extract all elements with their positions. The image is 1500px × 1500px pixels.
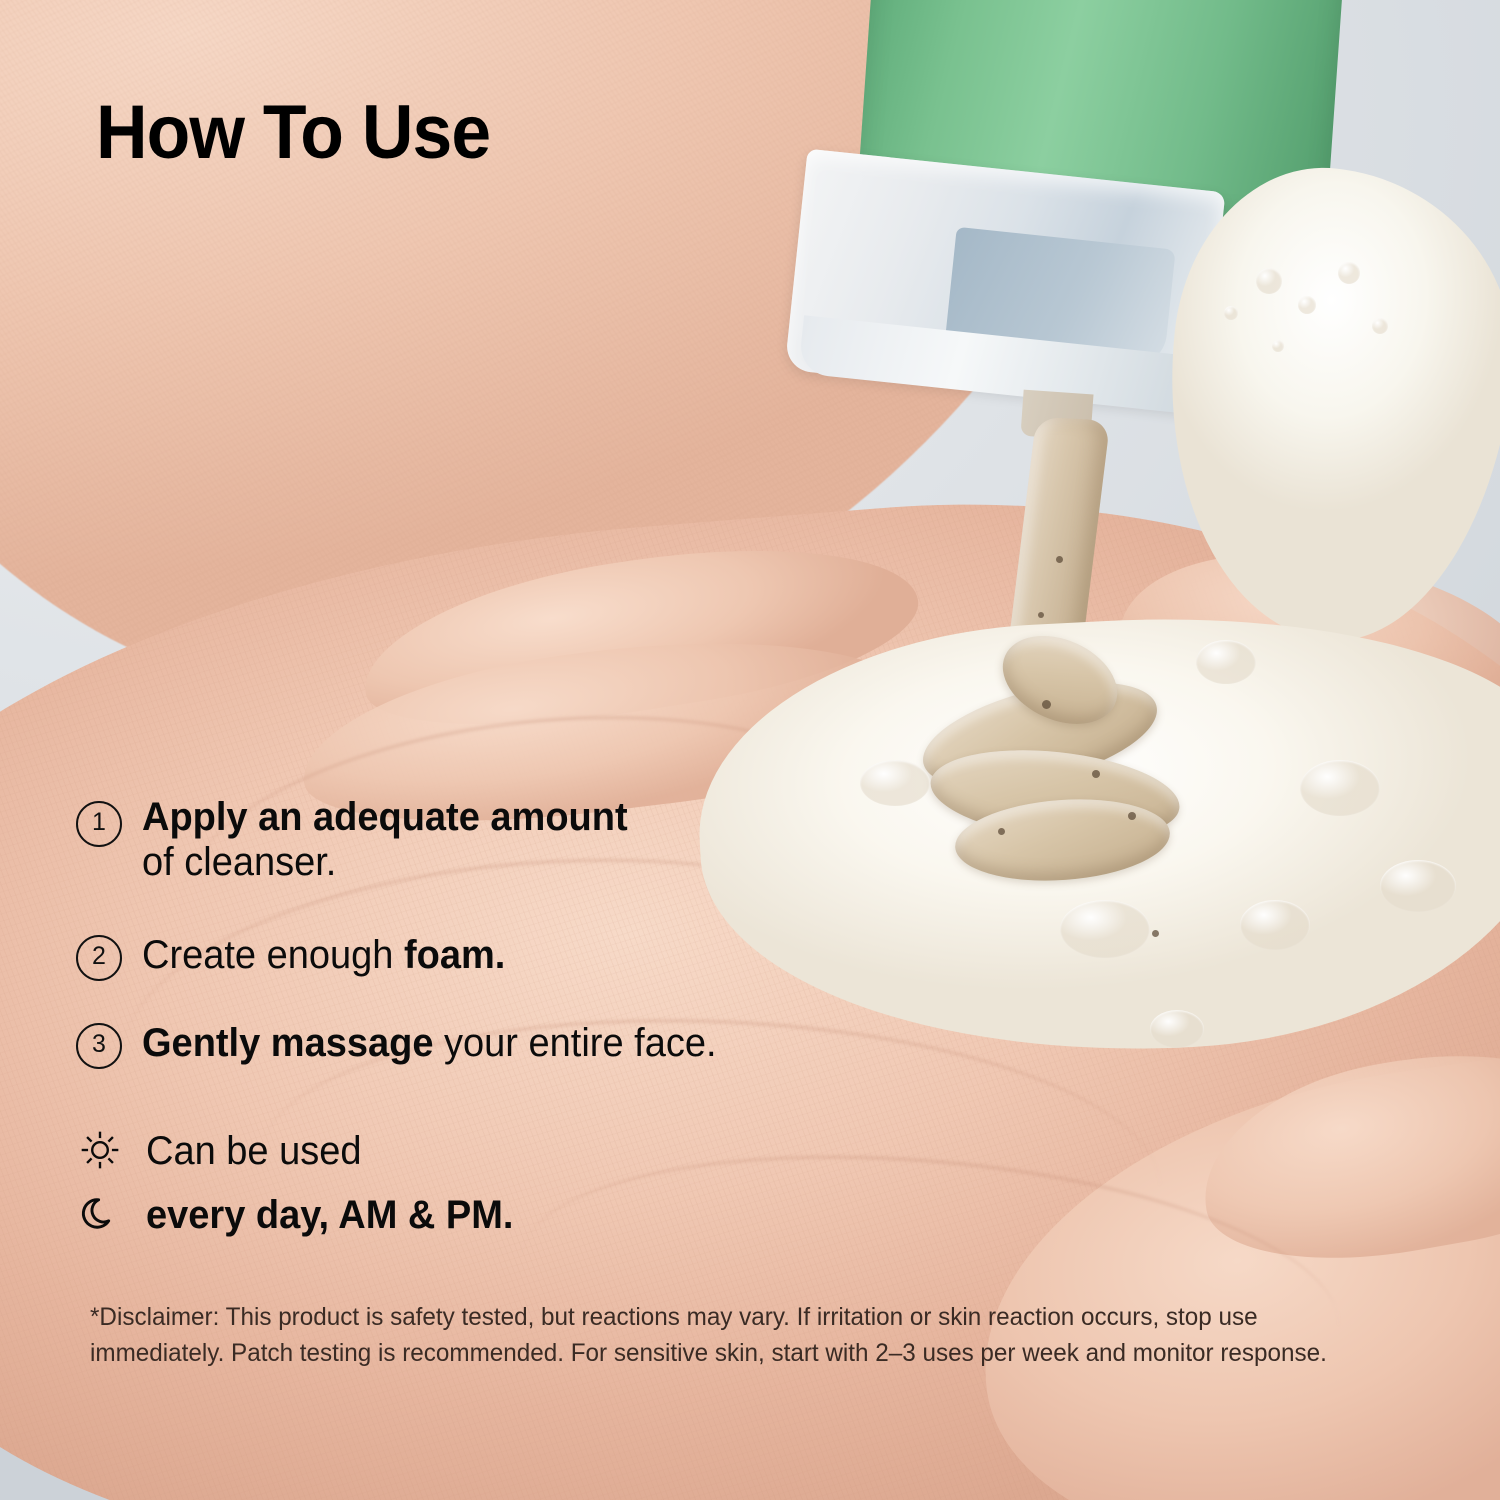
- step-number-badge: 1: [76, 801, 122, 847]
- how-to-use-infographic: How To Use 1 Apply an adequate amount of…: [0, 0, 1500, 1500]
- step-text-bold: Gently massage: [142, 1021, 433, 1065]
- step-text: Apply an adequate amount of cleanser.: [142, 795, 628, 885]
- step-item: 3 Gently massage your entire face.: [76, 1021, 1016, 1069]
- usage-frequency: Can be used every day, AM & PM.: [76, 1128, 533, 1238]
- disclaimer-text: *Disclaimer: This product is safety test…: [90, 1300, 1341, 1371]
- step-item: 1 Apply an adequate amount of cleanser.: [76, 795, 1016, 885]
- usage-row-pm: every day, AM & PM.: [76, 1192, 533, 1238]
- step-text: Create enough foam.: [142, 933, 505, 978]
- steps-list: 1 Apply an adequate amount of cleanser. …: [76, 795, 1016, 1069]
- sun-icon: [76, 1128, 132, 1174]
- usage-text-am: Can be used: [146, 1131, 362, 1171]
- page-title: How To Use: [96, 95, 490, 171]
- step-text-plain: Create enough: [142, 933, 404, 977]
- usage-row-am: Can be used: [76, 1128, 533, 1174]
- step-text-bold: Apply an adequate amount: [142, 795, 628, 839]
- step-text-bold: foam.: [404, 933, 505, 977]
- step-text: Gently massage your entire face.: [142, 1021, 717, 1066]
- step-text-plain: your entire face.: [433, 1021, 716, 1065]
- step-text-plain: of cleanser.: [142, 840, 336, 884]
- moon-icon: [76, 1192, 132, 1238]
- step-number-badge: 3: [76, 1023, 122, 1069]
- step-item: 2 Create enough foam.: [76, 933, 1016, 981]
- usage-text-pm: every day, AM & PM.: [146, 1195, 513, 1235]
- step-number-badge: 2: [76, 935, 122, 981]
